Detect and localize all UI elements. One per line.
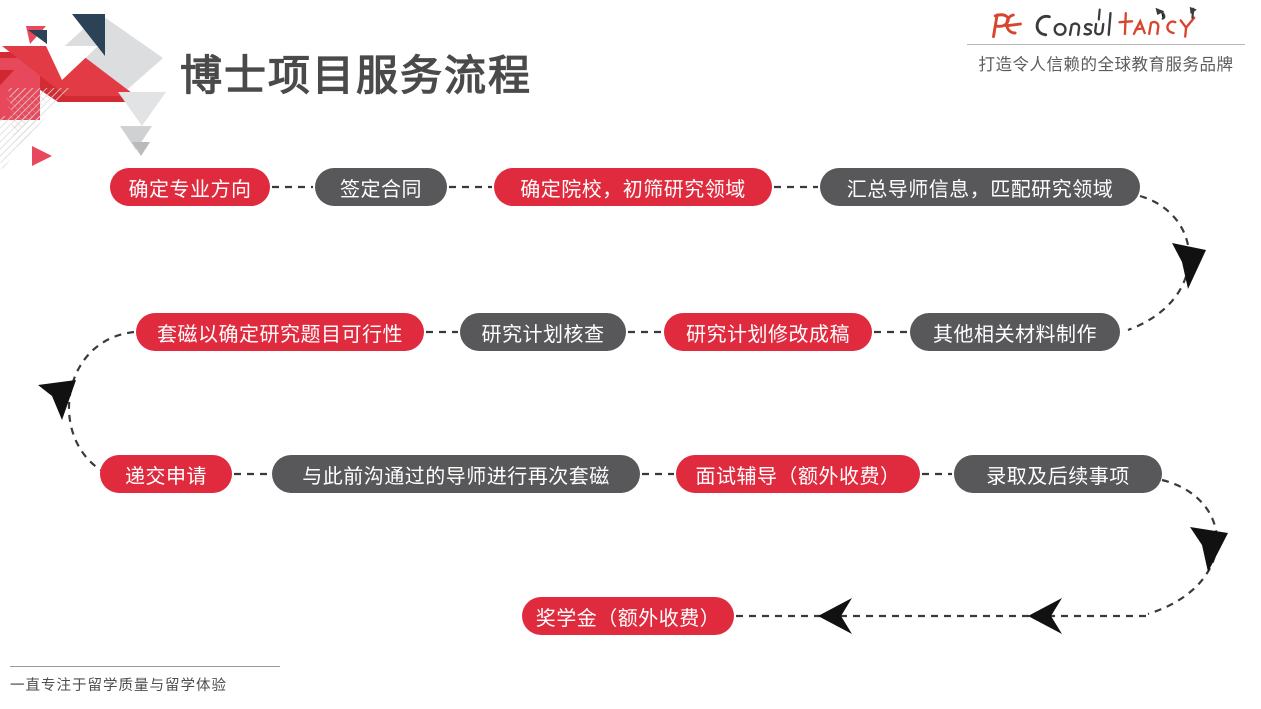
flow-step-3-4[interactable]: 录取及后续事项 (954, 455, 1162, 493)
brand-tagline: 打造令人信赖的全球教育服务品牌 (967, 51, 1245, 75)
flow-step-3-2[interactable]: 与此前沟通过的导师进行再次套磁 (272, 455, 640, 493)
flow-step-3-3[interactable]: 面试辅导（额外收费） (676, 455, 920, 493)
flow-step-2-4[interactable]: 其他相关材料制作 (910, 313, 1120, 351)
slide-canvas: 博士项目服务流程 (0, 0, 1261, 709)
flow-step-1-3[interactable]: 确定院校，初筛研究领域 (494, 168, 772, 206)
flow-step-3-1[interactable]: 递交申请 (100, 455, 232, 493)
flow-step-4-1[interactable]: 奖学金（额外收费） (522, 597, 734, 635)
geometric-decoration-icon (0, 0, 190, 180)
brand-logo (967, 6, 1245, 40)
flow-step-1-2[interactable]: 签定合同 (315, 168, 447, 206)
footer-divider (10, 666, 280, 667)
flow-step-2-3[interactable]: 研究计划修改成稿 (664, 313, 872, 351)
flow-step-1-1[interactable]: 确定专业方向 (110, 168, 270, 206)
footer: 一直专注于留学质量与留学体验 (10, 666, 280, 695)
brand-divider (967, 44, 1245, 45)
arrowhead-icon (38, 243, 1228, 634)
flow-step-2-1[interactable]: 套磁以确定研究题目可行性 (136, 313, 424, 351)
pe-consultancy-logo-icon (971, 6, 1241, 42)
footer-text: 一直专注于留学质量与留学体验 (10, 674, 280, 695)
page-title: 博士项目服务流程 (180, 42, 532, 103)
flow-step-2-2[interactable]: 研究计划核查 (460, 313, 626, 351)
flow-step-1-4[interactable]: 汇总导师信息，匹配研究领域 (820, 168, 1140, 206)
brand-block: 打造令人信赖的全球教育服务品牌 (967, 6, 1245, 75)
